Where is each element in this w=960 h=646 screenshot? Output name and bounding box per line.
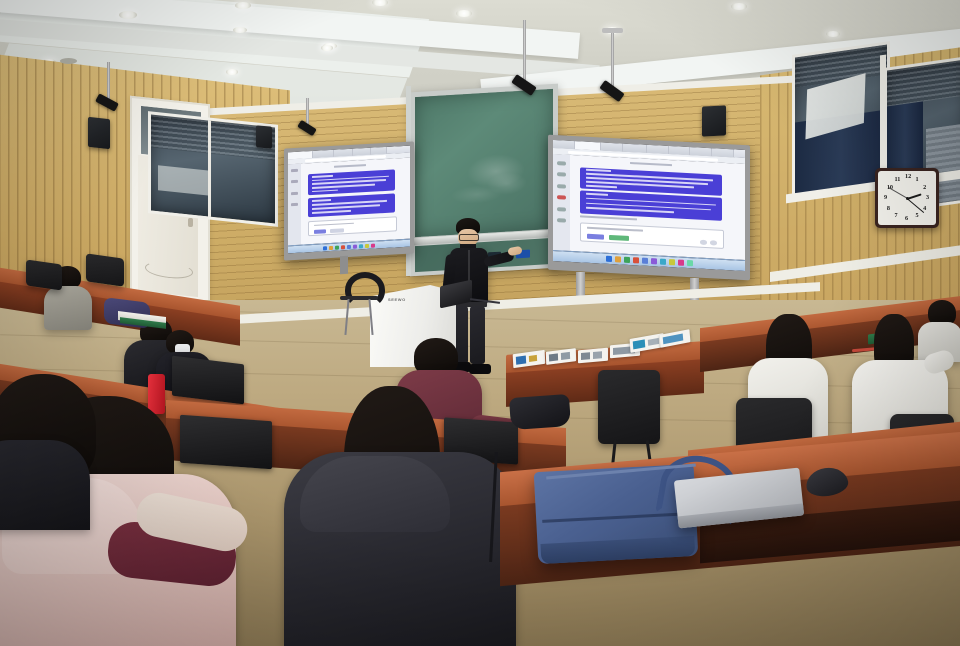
presenter-right-shoe xyxy=(469,364,491,374)
right-display-screen[interactable] xyxy=(553,140,745,271)
camera-mount-pole xyxy=(306,98,309,126)
wall-speaker xyxy=(702,105,726,136)
clock-numeral: 2 xyxy=(923,185,926,191)
send-button[interactable] xyxy=(587,234,604,240)
clock-numeral: 3 xyxy=(926,195,929,201)
camera-mount-plate xyxy=(602,28,623,33)
clock-numeral: 8 xyxy=(887,206,890,212)
ceiling-downlight xyxy=(372,0,388,6)
clock-second-hand xyxy=(889,188,908,199)
clock-numeral: 6 xyxy=(905,216,908,222)
ceiling-downlight xyxy=(235,2,251,9)
clock-face: 121234567891011 xyxy=(878,171,936,225)
conference-chair[interactable] xyxy=(598,370,660,444)
chat-message-highlight xyxy=(308,193,396,217)
right-wall-display[interactable] xyxy=(548,135,750,281)
settings-icon[interactable] xyxy=(710,240,717,245)
chat-message-highlight xyxy=(580,190,722,220)
clock-numeral: 9 xyxy=(884,195,887,201)
ceiling-smoke-detector xyxy=(60,58,77,64)
glasses-icon xyxy=(459,234,479,241)
ceiling-downlight xyxy=(456,10,472,17)
presenter-right-leg xyxy=(470,306,485,364)
black-handbag[interactable] xyxy=(509,394,571,430)
printed-handout[interactable] xyxy=(578,348,608,364)
right-display-page xyxy=(553,154,745,260)
chat-input-box[interactable] xyxy=(308,217,398,237)
clock-numeral: 7 xyxy=(895,213,898,219)
clock-numeral: 11 xyxy=(895,177,901,183)
ceiling-downlight xyxy=(321,45,333,50)
wall-speaker xyxy=(256,125,272,148)
ceiling-downlight xyxy=(226,69,238,74)
classroom-scene: 121234567891011 xyxy=(0,0,960,646)
camera-mount-pole xyxy=(107,62,110,100)
conference-chair[interactable] xyxy=(86,253,124,286)
clock-numeral: 5 xyxy=(916,213,919,219)
clock-numeral: 1 xyxy=(916,177,919,183)
stool[interactable] xyxy=(340,296,378,300)
door-handle[interactable] xyxy=(188,218,193,227)
chat-input-box[interactable] xyxy=(580,223,724,250)
red-thermos-bottle[interactable] xyxy=(148,374,165,414)
chat-message-highlight xyxy=(308,170,396,196)
clock-numeral: 12 xyxy=(905,174,911,180)
wall-speaker xyxy=(88,117,110,149)
camera-mount-pole xyxy=(611,32,614,88)
left-display-page xyxy=(288,158,410,246)
attach-button[interactable] xyxy=(609,235,629,241)
page-heading xyxy=(630,162,672,167)
lectern-brand-label: SEEWO xyxy=(388,297,406,302)
page-heading xyxy=(334,164,366,168)
app-side-rail[interactable] xyxy=(288,164,301,246)
left-display-bracket xyxy=(340,256,348,274)
conference-chair[interactable] xyxy=(26,259,62,290)
left-wall-display[interactable] xyxy=(284,141,414,260)
attach-button[interactable] xyxy=(330,229,344,233)
page-subtext xyxy=(580,216,638,221)
camera-mount-pole xyxy=(523,20,526,82)
mic-icon[interactable] xyxy=(700,240,707,245)
left-display-screen[interactable] xyxy=(288,146,410,254)
clock-center-pin xyxy=(906,197,909,200)
ceiling-downlight xyxy=(826,31,840,37)
app-side-rail[interactable] xyxy=(553,154,570,251)
headphones-icon[interactable] xyxy=(345,272,385,308)
recessed-desk-monitor[interactable] xyxy=(180,415,272,469)
ceiling-downlight xyxy=(731,3,747,10)
chalkboard-surface xyxy=(415,89,553,237)
wall-clock: 121234567891011 xyxy=(875,168,939,228)
student-left-edge xyxy=(0,440,90,530)
student-back-left-grey xyxy=(44,286,92,330)
clock-minute-hand xyxy=(907,198,925,213)
student-front-black-coat-hood xyxy=(300,456,450,532)
send-button[interactable] xyxy=(314,230,326,234)
